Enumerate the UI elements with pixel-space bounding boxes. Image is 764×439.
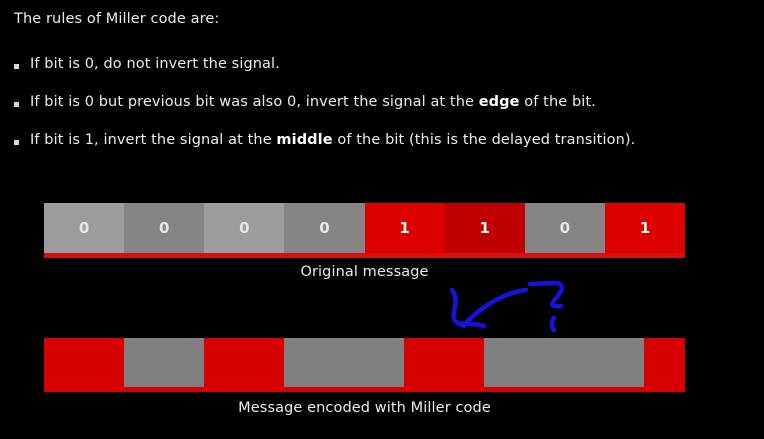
bit-value-label: 1: [399, 219, 409, 237]
rule-text-segment: If bit is 0, do not invert the signal.: [30, 56, 280, 72]
rule-text-3: If bit is 1, invert the signal at the mi…: [30, 131, 635, 151]
encoded-message-diagram: [44, 338, 685, 392]
bit-cell-6: 0: [525, 203, 605, 253]
square-bullet-icon: [14, 102, 19, 107]
bit-cell-row: 00001101: [44, 203, 685, 253]
question-mark-top-stroke: [530, 283, 562, 306]
bit-value-label: 0: [79, 219, 89, 237]
rule-text-1: If bit is 0, do not invert the signal.: [30, 55, 280, 75]
miller-code-rules-list: If bit is 0, do not invert the signal. I…: [14, 55, 754, 169]
blue-ink-arrow-annotation: [430, 278, 600, 340]
square-bullet-icon: [14, 64, 19, 69]
rule-text-segment: If bit is 1, invert the signal at the: [30, 132, 276, 148]
arrowhead-bottom-stroke: [461, 324, 484, 327]
gray-segment-2: [284, 338, 404, 387]
bit-value-label: 0: [560, 219, 570, 237]
rule-text-segment: of the bit (this is the delayed transiti…: [333, 132, 636, 148]
rule-emphasis-middle: middle: [276, 132, 332, 148]
rule-text-segment: of the bit.: [520, 94, 596, 110]
rule-emphasis-edge: edge: [479, 94, 520, 110]
bit-cell-4: 1: [365, 203, 445, 253]
bit-cell-5: 1: [445, 203, 525, 253]
original-message-diagram: 00001101: [44, 203, 685, 261]
original-message-baseline: [44, 253, 685, 258]
square-bullet-icon: [14, 140, 19, 145]
list-item: If bit is 0 but previous bit was also 0,…: [14, 93, 754, 131]
page-intro-heading: The rules of Miller code are:: [14, 11, 219, 27]
bit-value-label: 0: [239, 219, 249, 237]
list-item: If bit is 1, invert the signal at the mi…: [14, 131, 754, 169]
bit-cell-3: 0: [284, 203, 364, 253]
bit-value-label: 1: [640, 219, 650, 237]
bit-cell-0: 0: [44, 203, 124, 253]
bit-cell-1: 0: [124, 203, 204, 253]
bit-cell-7: 1: [605, 203, 685, 253]
arrow-shaft-stroke: [464, 290, 526, 325]
original-message-caption: Original message: [44, 264, 685, 280]
list-item: If bit is 0, do not invert the signal.: [14, 55, 754, 93]
gray-segment-1: [124, 338, 204, 387]
rule-text-segment: If bit is 0 but previous bit was also 0,…: [30, 94, 479, 110]
gray-segment-3: [484, 338, 644, 387]
question-mark-dot-stroke: [552, 318, 554, 330]
arrowhead-left-stroke: [452, 290, 463, 325]
bit-cell-2: 0: [204, 203, 284, 253]
rule-text-2: If bit is 0 but previous bit was also 0,…: [30, 93, 596, 113]
bit-value-label: 1: [479, 219, 489, 237]
bit-value-label: 0: [159, 219, 169, 237]
encoded-message-caption: Message encoded with Miller code: [44, 400, 685, 416]
bit-value-label: 0: [319, 219, 329, 237]
